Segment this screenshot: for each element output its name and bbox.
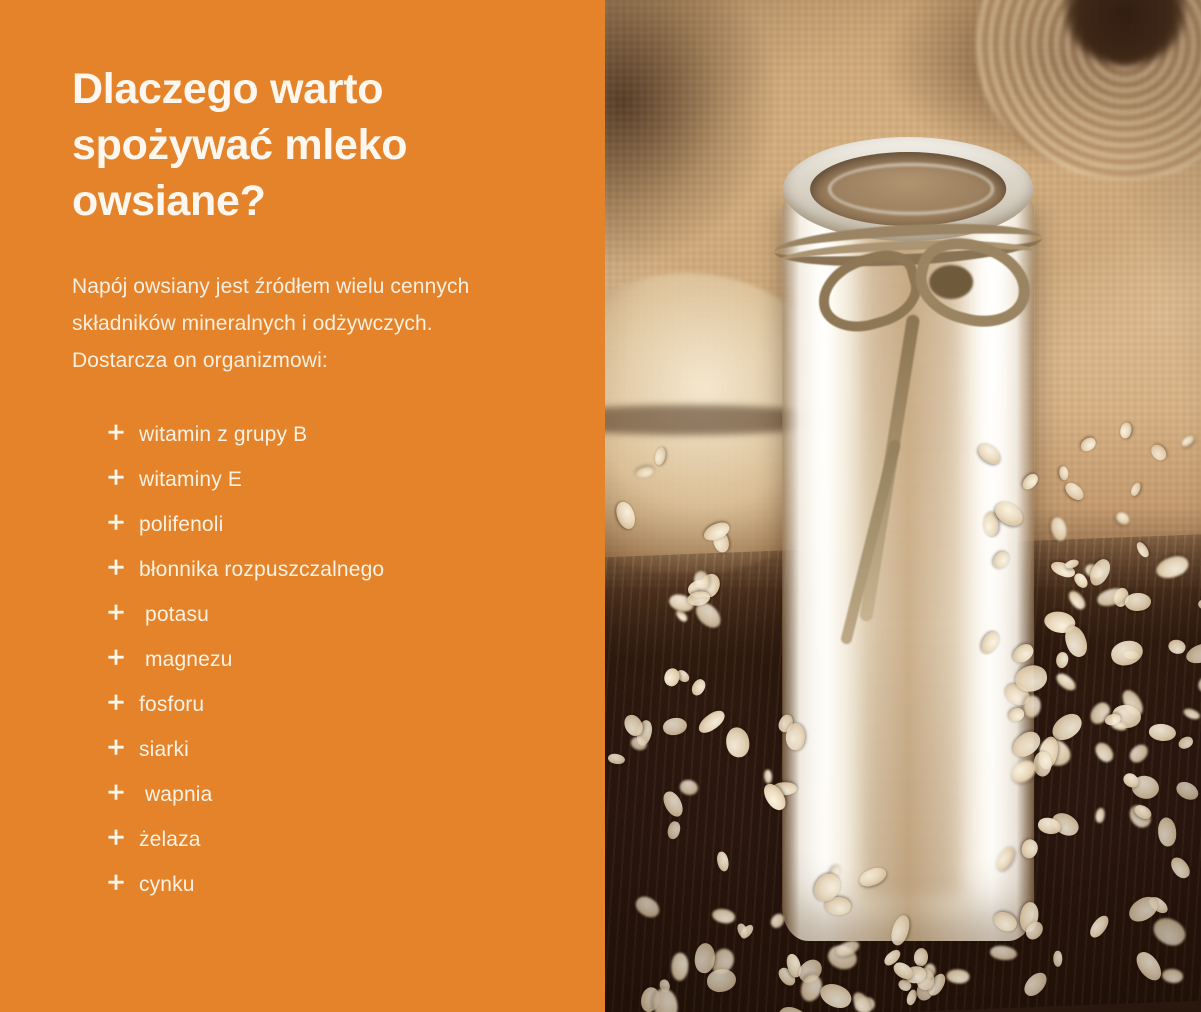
- benefits-panel: Dlaczego warto spożywać mleko owsiane? N…: [0, 0, 605, 1012]
- oat-flake: [632, 893, 663, 923]
- oat-flake: [1020, 471, 1041, 492]
- oat-flake: [1006, 707, 1025, 724]
- oat-flake: [711, 906, 737, 925]
- plus-icon: [105, 692, 139, 716]
- plus-icon: [105, 422, 139, 446]
- oat-flake: [694, 571, 709, 590]
- oat-flake: [614, 499, 638, 530]
- oat-flake: [716, 851, 730, 872]
- oat-flake: [707, 968, 737, 992]
- intro-paragraph: Napój owsiany jest źródłem wielu cennych…: [72, 268, 492, 380]
- list-item-label: polifenoli: [139, 514, 223, 535]
- oat-flake: [1066, 588, 1088, 612]
- oat-flake: [785, 722, 807, 751]
- oat-flake: [661, 789, 686, 820]
- oat-flake: [817, 979, 855, 1012]
- plus-icon: [105, 872, 139, 896]
- list-item-label: fosforu: [139, 694, 204, 715]
- oat-flake: [978, 629, 1003, 656]
- list-item: żelaza: [105, 817, 572, 862]
- oat-flake: [993, 845, 1017, 873]
- oat-flake: [1092, 740, 1116, 765]
- oat-flake: [1018, 837, 1040, 861]
- oat-flake: [689, 676, 708, 697]
- list-item-label: potasu: [139, 604, 209, 625]
- list-item-label: siarki: [139, 739, 189, 760]
- oat-flake: [670, 952, 689, 981]
- oat-flake: [1158, 817, 1177, 846]
- list-item: magnezu: [105, 637, 572, 682]
- list-item-label: magnezu: [139, 649, 232, 670]
- list-item: polifenoli: [105, 502, 572, 547]
- list-item-label: błonnika rozpuszczalnego: [139, 559, 384, 580]
- oat-flake: [678, 777, 700, 797]
- oat-flake: [1053, 951, 1063, 967]
- page-title: Dlaczego warto spożywać mleko owsiane?: [72, 62, 512, 230]
- plus-icon: [105, 827, 139, 851]
- oat-flake: [857, 864, 889, 889]
- list-item-label: witaminy E: [139, 469, 242, 490]
- oat-milk-infographic: Dlaczego warto spożywać mleko owsiane? N…: [0, 0, 1201, 1012]
- oat-flake: [1149, 441, 1169, 462]
- list-item: siarki: [105, 727, 572, 772]
- list-item: błonnika rozpuszczalnego: [105, 547, 572, 592]
- oat-flake: [1109, 638, 1145, 667]
- oat-flake: [768, 911, 786, 929]
- list-item: witamin z grupy B: [105, 412, 572, 457]
- benefits-list: witamin z grupy B witaminy E: [105, 412, 572, 907]
- list-item-label: wapnia: [139, 784, 212, 805]
- oat-flake: [1180, 433, 1196, 448]
- oat-flake: [888, 913, 914, 948]
- oat-flake: [665, 820, 682, 840]
- plus-icon: [105, 557, 139, 581]
- list-item: potasu: [105, 592, 572, 637]
- oat-flake: [946, 968, 970, 985]
- oat-flake: [635, 466, 654, 479]
- oat-flake: [1154, 553, 1191, 581]
- oat-flake: [1184, 640, 1201, 666]
- oat-flake: [764, 769, 772, 784]
- oat-flake: [1050, 516, 1068, 542]
- oat-flake: [1148, 912, 1189, 951]
- oat-flake: [607, 752, 626, 765]
- oat-flake: [695, 707, 728, 736]
- oat-flake: [1197, 597, 1201, 612]
- oat-flake: [1125, 593, 1152, 612]
- oat-flake: [654, 446, 668, 466]
- panel-content: Dlaczego warto spożywać mleko owsiane? N…: [72, 62, 572, 907]
- oat-flake: [1148, 722, 1177, 743]
- oat-flake: [1054, 670, 1079, 694]
- oat-flake: [1063, 479, 1087, 503]
- oat-flake: [662, 717, 687, 736]
- oat-flake: [1119, 422, 1134, 440]
- plus-icon: [105, 737, 139, 761]
- oat-flake: [1054, 651, 1069, 669]
- plus-icon: [105, 782, 139, 806]
- oat-flake: [726, 727, 751, 758]
- oat-flake: [1086, 557, 1115, 590]
- oat-flake: [1161, 967, 1184, 985]
- oat-flake: [1010, 641, 1037, 666]
- list-item: fosforu: [105, 682, 572, 727]
- oat-flake: [990, 908, 1020, 935]
- list-item-label: żelaza: [139, 829, 201, 850]
- list-item: witaminy E: [105, 457, 572, 502]
- oat-flake: [1197, 670, 1201, 696]
- oat-flake: [1181, 705, 1201, 721]
- plus-icon: [105, 602, 139, 626]
- list-item: cynku: [105, 862, 572, 907]
- plus-icon: [105, 512, 139, 536]
- list-item: wapnia: [105, 772, 572, 817]
- oat-flake: [1177, 734, 1195, 750]
- oat-flake: [1174, 778, 1201, 804]
- list-item-label: witamin z grupy B: [139, 424, 307, 445]
- oat-flake: [1059, 466, 1069, 481]
- oat-flake: [1127, 741, 1152, 765]
- oat-flake: [990, 549, 1013, 572]
- list-item-label: cynku: [139, 874, 195, 895]
- oat-flakes: [605, 0, 1201, 1012]
- oat-flake: [1167, 854, 1192, 882]
- oat-flake: [1114, 510, 1131, 527]
- plus-icon: [105, 647, 139, 671]
- oat-flake: [975, 440, 1004, 469]
- oat-flake: [1132, 947, 1165, 984]
- oat-flake: [989, 944, 1018, 962]
- product-photo: Butelka mleka owsianego przewiązana sznu…: [605, 0, 1201, 1012]
- oat-flake: [1094, 808, 1106, 824]
- oat-flake: [1078, 436, 1098, 454]
- oat-flake: [775, 1002, 811, 1012]
- oat-flake: [1020, 969, 1050, 999]
- oat-flake: [1166, 637, 1187, 656]
- oat-flake: [1129, 481, 1143, 497]
- oat-flake: [1087, 913, 1113, 941]
- plus-icon: [105, 467, 139, 491]
- oat-flake: [1134, 540, 1151, 560]
